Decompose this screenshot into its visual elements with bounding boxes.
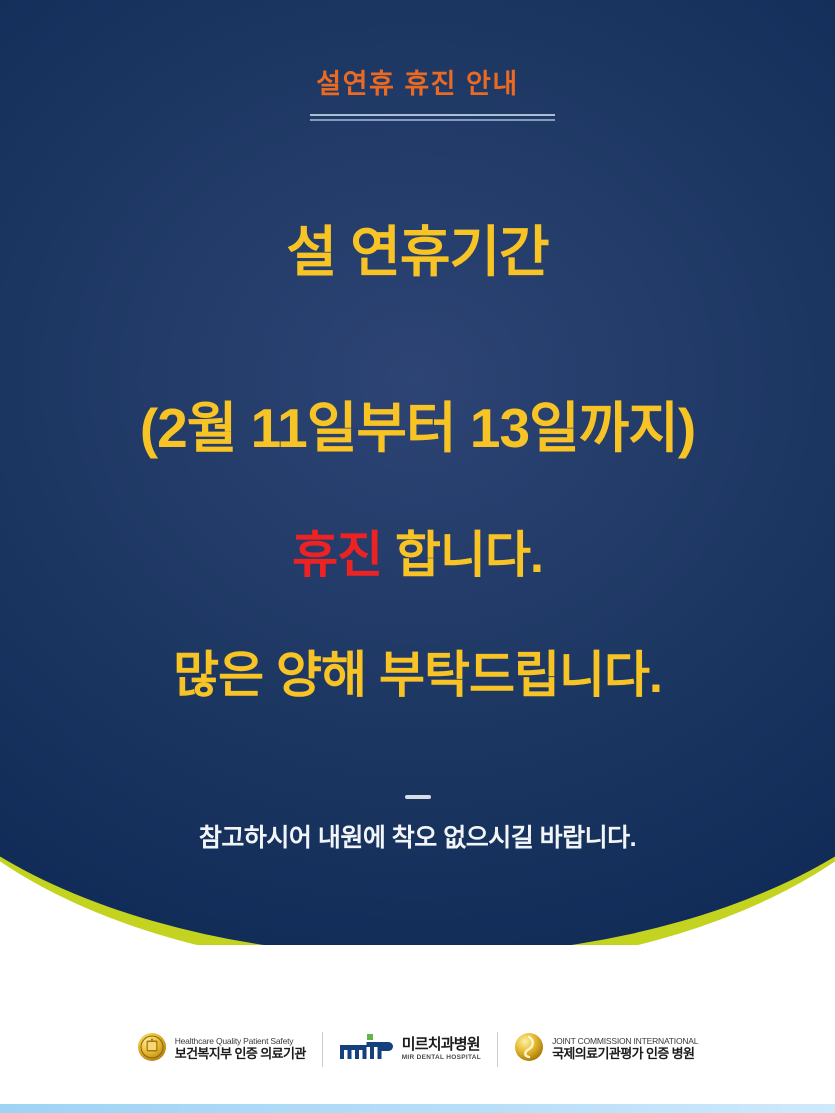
- certification-ko-label: 보건복지부 인증 의료기관: [175, 1046, 306, 1062]
- eyebrow-divider: [310, 114, 555, 121]
- hero-content: 설연휴 휴진 안내 설 연휴기간 (2월 11일부터 13일까지) 휴진 합니다…: [0, 0, 835, 900]
- certification-healthcare-quality: Healthcare Quality Patient Safety 보건복지부 …: [121, 1032, 322, 1067]
- note-text: 참고하시어 내원에 착오 없으시길 바랍니다.: [0, 818, 835, 854]
- closure-verb: 합니다.: [382, 527, 543, 583]
- headline-line-4-apology: 많은 양해 부탁드립니다.: [0, 648, 835, 703]
- holiday-closure-poster: 설연휴 휴진 안내 설 연휴기간 (2월 11일부터 13일까지) 휴진 합니다…: [0, 0, 835, 1113]
- certification-footer: Healthcare Quality Patient Safety 보건복지부 …: [0, 1018, 835, 1080]
- bottom-accent-strip: [0, 1104, 835, 1113]
- headline-line-2-date-range: (2월 11일부터 13일까지): [0, 398, 835, 459]
- page-eyebrow-title: 설연휴 휴진 안내: [0, 62, 835, 101]
- mir-name-ko: 미르치과병원: [402, 1036, 481, 1055]
- headline-line-1: 설 연휴기간: [0, 222, 835, 283]
- divider-line-top: [310, 114, 555, 116]
- gold-medal-seal-icon: [137, 1032, 167, 1067]
- certification-ko-label: 국제의료기관평가 인증 병원: [552, 1046, 698, 1062]
- certification-en-label: Healthcare Quality Patient Safety: [175, 1036, 306, 1047]
- mir-lockup: 미르치과병원 MIR DENTAL HOSPITAL: [339, 1032, 481, 1067]
- jci-gold-seal-icon: [514, 1032, 544, 1067]
- dash-mark: [405, 795, 431, 799]
- mir-text-block: 미르치과병원 MIR DENTAL HOSPITAL: [402, 1036, 481, 1063]
- hero-panel: 설연휴 휴진 안내 설 연휴기간 (2월 11일부터 13일까지) 휴진 합니다…: [0, 0, 835, 945]
- closure-keyword: 휴진: [292, 527, 382, 583]
- mir-logo-icon: [339, 1032, 395, 1067]
- divider-line-bottom: [310, 119, 555, 121]
- certification-en-label: JOINT COMMISSION INTERNATIONAL: [552, 1036, 698, 1047]
- certification-jci: JOINT COMMISSION INTERNATIONAL 국제의료기관평가 …: [497, 1032, 714, 1067]
- headline-line-3-closure: 휴진 합니다.: [0, 528, 835, 583]
- certification-text-block: JOINT COMMISSION INTERNATIONAL 국제의료기관평가 …: [552, 1036, 698, 1063]
- certification-text-block: Healthcare Quality Patient Safety 보건복지부 …: [175, 1036, 306, 1063]
- certification-mir-dental-hospital: 미르치과병원 MIR DENTAL HOSPITAL: [322, 1032, 497, 1067]
- note-separator-dash: [0, 786, 835, 804]
- mir-name-en: MIR DENTAL HOSPITAL: [402, 1054, 481, 1062]
